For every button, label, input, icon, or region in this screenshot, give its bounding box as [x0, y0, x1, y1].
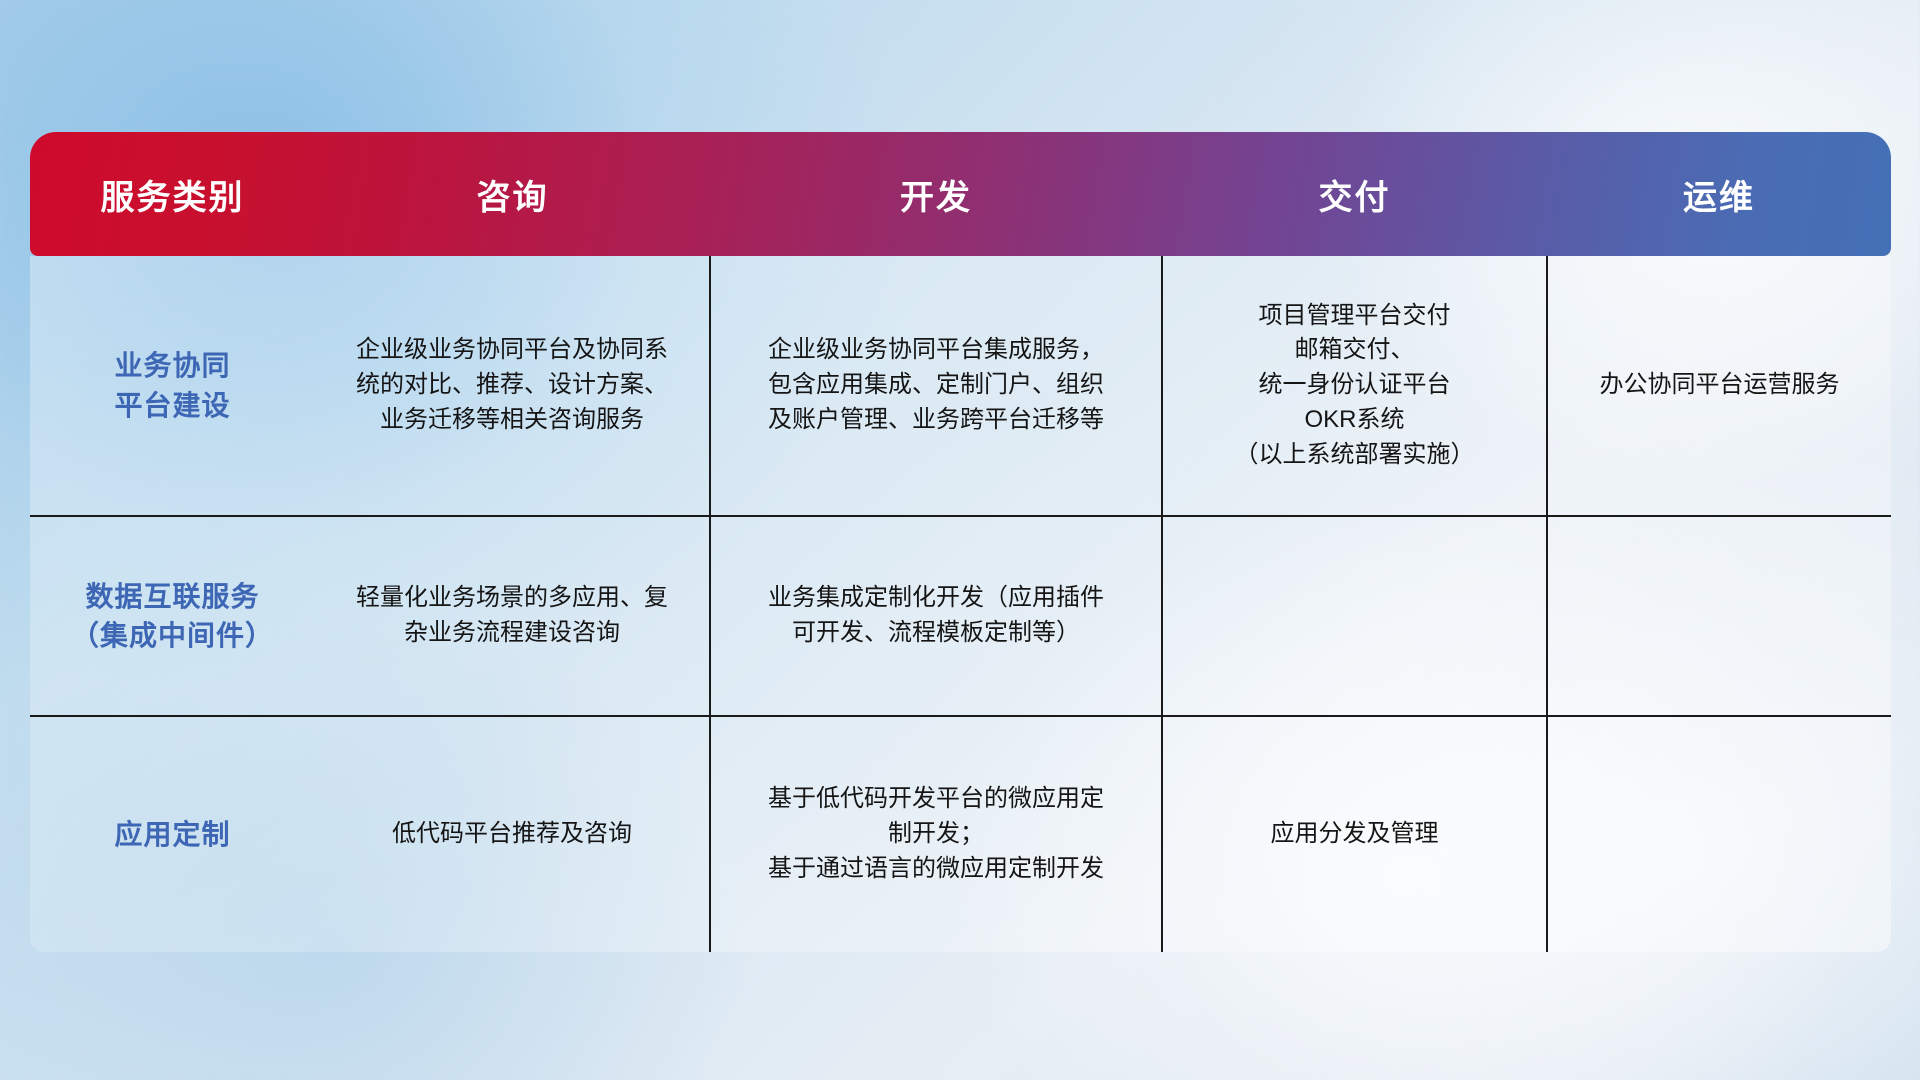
cell-consulting-text: 轻量化业务场景的多应用、复 杂业务流程建设咨询: [333, 581, 691, 651]
row-label-text: 业务协同 平台建设: [48, 346, 297, 424]
column-header-development: 开发: [710, 132, 1162, 256]
column-header-delivery-label: 交付: [1162, 170, 1547, 219]
cell-consulting-text: 企业级业务协同平台及协同系 统的对比、推荐、设计方案、 业务迁移等相关咨询服务: [333, 333, 691, 437]
column-header-operations-label: 运维: [1547, 170, 1891, 219]
table-header-row: 服务类别 咨询 开发 交付 运维: [30, 132, 1891, 256]
cell-development: 基于低代码开发平台的微应用定 制开发； 基于通过语言的微应用定制开发: [710, 716, 1162, 952]
service-matrix-container: 服务类别 咨询 开发 交付 运维 业务协同 平台建设: [30, 132, 1891, 952]
cell-development: 企业级业务协同平台集成服务， 包含应用集成、定制门户、组织 及账户管理、业务跨平…: [710, 256, 1162, 516]
cell-operations: [1547, 716, 1891, 952]
cell-delivery: 应用分发及管理: [1162, 716, 1547, 952]
table-body: 业务协同 平台建设 企业级业务协同平台及协同系 统的对比、推荐、设计方案、 业务…: [30, 256, 1891, 952]
cell-development-text: 业务集成定制化开发（应用插件 可开发、流程模板定制等）: [729, 581, 1143, 651]
cell-development: 业务集成定制化开发（应用插件 可开发、流程模板定制等）: [710, 516, 1162, 716]
cell-consulting: 企业级业务协同平台及协同系 统的对比、推荐、设计方案、 业务迁移等相关咨询服务: [315, 256, 710, 516]
cell-delivery: [1162, 516, 1547, 716]
row-label-text: 应用定制: [48, 815, 297, 854]
cell-operations: 办公协同平台运营服务: [1547, 256, 1891, 516]
row-label-cell: 应用定制: [30, 716, 315, 952]
table-row: 数据互联服务 （集成中间件） 轻量化业务场景的多应用、复 杂业务流程建设咨询 业…: [30, 516, 1891, 716]
cell-consulting: 低代码平台推荐及咨询: [315, 716, 710, 952]
cell-operations: [1547, 516, 1891, 716]
service-category-table: 服务类别 咨询 开发 交付 运维 业务协同 平台建设: [30, 132, 1891, 952]
cell-delivery-text: 应用分发及管理: [1181, 817, 1528, 852]
row-label-cell: 业务协同 平台建设: [30, 256, 315, 516]
cell-delivery: 项目管理平台交付 邮箱交付、 统一身份认证平台 OKR系统 （以上系统部署实施）: [1162, 256, 1547, 516]
cell-delivery-text: 项目管理平台交付 邮箱交付、 统一身份认证平台 OKR系统 （以上系统部署实施）: [1181, 299, 1528, 473]
cell-consulting-text: 低代码平台推荐及咨询: [333, 817, 691, 852]
column-header-consulting: 咨询: [315, 132, 710, 256]
cell-operations-text: 办公协同平台运营服务: [1566, 368, 1873, 403]
row-label-cell: 数据互联服务 （集成中间件）: [30, 516, 315, 716]
table-row: 业务协同 平台建设 企业级业务协同平台及协同系 统的对比、推荐、设计方案、 业务…: [30, 256, 1891, 516]
column-header-category: 服务类别: [30, 132, 315, 256]
column-header-operations: 运维: [1547, 132, 1891, 256]
table-header: 服务类别 咨询 开发 交付 运维: [30, 132, 1891, 256]
cell-development-text: 企业级业务协同平台集成服务， 包含应用集成、定制门户、组织 及账户管理、业务跨平…: [729, 333, 1143, 437]
row-label-text: 数据互联服务 （集成中间件）: [48, 577, 297, 655]
cell-development-text: 基于低代码开发平台的微应用定 制开发； 基于通过语言的微应用定制开发: [729, 782, 1143, 886]
column-header-development-label: 开发: [710, 170, 1162, 219]
column-header-consulting-label: 咨询: [315, 170, 710, 219]
column-header-delivery: 交付: [1162, 132, 1547, 256]
cell-consulting: 轻量化业务场景的多应用、复 杂业务流程建设咨询: [315, 516, 710, 716]
table-row: 应用定制 低代码平台推荐及咨询 基于低代码开发平台的微应用定 制开发； 基于通过…: [30, 716, 1891, 952]
column-header-category-label: 服务类别: [30, 170, 315, 219]
